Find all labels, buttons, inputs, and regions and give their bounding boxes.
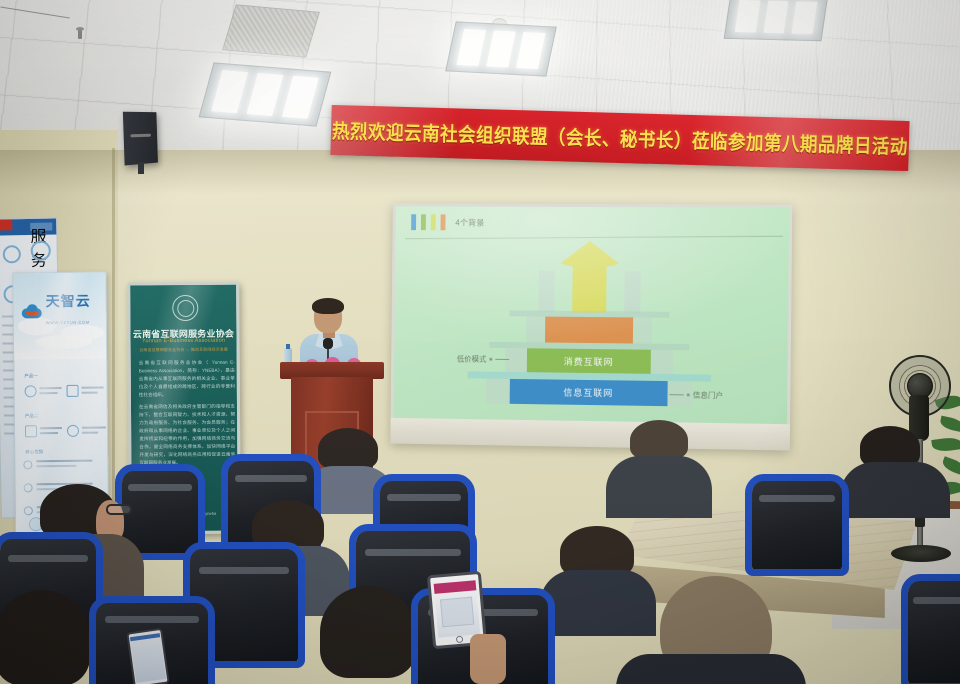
light-tube [792,1,817,34]
audience-shoulders [616,654,806,684]
ceiling-light-panel-right [724,0,829,41]
tier-side-left [526,316,545,342]
ceiling-light-panel-left [199,62,332,126]
slide-title: 4个背景 [455,217,484,228]
header-bar-orange [440,214,445,230]
light-tube [211,71,247,113]
chair-highlight [8,555,89,562]
poster-header-accent [0,219,12,230]
association-paragraph-one: 云南省互联网服务业协会（ Yunnan E-Business Associati… [139,359,235,400]
smartphone[interactable] [126,628,169,684]
welcome-banner-text: 热烈欢迎云南社会组织联盟（会长、秘书长）莅临参加第八期品牌日活动 [332,116,909,160]
tier-side-left [486,379,510,404]
callout-line [495,359,509,360]
arrow-wing-right [624,271,640,313]
ceiling-light-panel-center [445,21,557,76]
audience-head-hair [320,586,416,678]
chair[interactable] [752,480,842,572]
callout-dot [687,393,690,396]
light-tube [457,29,486,66]
chair-frame [901,574,960,684]
arrow-shaft [572,263,606,313]
wall-speaker [123,112,158,166]
tablet-photo-preview [440,597,474,628]
brand-lockup: 天智云 WWW.TZYUN.COM [22,293,91,330]
association-emblem-icon [172,295,198,321]
pyramid-tier-blue: 信息互联网 [486,379,692,407]
light-tube [247,73,283,115]
light-tube [763,0,788,33]
microphone-icon [323,338,333,349]
tier-side-right [651,350,673,374]
light-tube [735,0,760,33]
audience-shoulders [840,462,950,518]
brand-text-group: 天智云 WWW.TZYUN.COM [46,293,91,329]
tier-orange-label [545,317,633,344]
chair-highlight [105,616,199,623]
audience-shoulders [540,570,656,636]
presentation-slide: 4个背景 消费互联网 [394,206,790,424]
chair[interactable] [908,580,960,684]
presenter-hair [312,298,344,314]
association-subtitle: Yunnan E-Business Association [131,338,237,345]
header-bar-lightgreen [431,214,436,230]
callout-left-label: 低价模式 [457,353,487,364]
pyramid-diagram: 消费互联网 信息互联网 低价模式 信息门户 [394,236,789,422]
home-button-icon[interactable] [456,636,464,644]
feature-text-line [82,392,98,394]
header-bar-blue [411,214,416,230]
chair-highlight [913,597,960,604]
chair-highlight [365,549,461,556]
tier-blue-label: 信息互联网 [510,379,668,406]
pyramid-tier-orange [526,316,652,343]
tier-side-right [633,317,652,343]
illustration-circle [31,241,51,261]
chair-frame [745,474,849,576]
brand-name: 天智云 [46,293,91,309]
callout-right-label: 信息门户 [693,389,723,401]
association-tagline: 云南省互联网服务业协会 — 推动互联网经济发展 [131,347,237,354]
cloud-icon [22,304,42,318]
light-tube [516,32,545,69]
audience-shoulders [606,456,712,518]
hand-holding-tablet [470,634,506,684]
feature-text-line [82,387,104,389]
feature-icon [67,385,79,397]
audience-head-hair [318,428,378,470]
chair-highlight [199,567,290,574]
chair-highlight [387,494,461,501]
pyramid-top-arrow [555,241,624,314]
feature-cell [24,383,64,409]
arrow-head [556,241,624,267]
chair-highlight [128,484,192,491]
brand-url: WWW.TZYUN.COM [46,320,90,325]
audience-head-hair [630,420,688,460]
audience-head-hair [0,590,90,684]
chair-highlight [235,475,307,482]
illustration-circle [3,245,21,263]
decor-cloud [36,335,92,350]
ceiling-air-vent [222,4,320,57]
poster-header-bar: 服务指南 [0,218,56,235]
header-bar-green [421,214,426,230]
slide-callout-right: 信息门户 [669,389,723,401]
arrow-wing-left [538,271,554,313]
speaker-bracket [138,162,144,174]
light-tube [487,30,516,67]
pyramid-tier-green: 消费互联网 [505,348,673,374]
section-one-title: 产品一 [24,373,38,379]
poster-header-badge: 服务指南 [30,223,52,231]
feature-icon [25,385,37,397]
audience-seating [0,408,960,684]
sprinkler-head [78,30,82,39]
feature-text-line [40,392,58,394]
callout-line [670,394,684,395]
chair-highlight [759,495,835,502]
slide-callout-left: 低价模式 [457,353,509,365]
slide-header: 4个背景 [411,214,484,230]
phone-screen [130,633,166,683]
feature-cell [66,383,106,409]
light-tube [282,76,318,118]
feature-text-line [40,387,62,389]
callout-dot [489,358,492,361]
eyeglasses-icon [106,504,132,515]
tier-green-label: 消费互联网 [527,348,651,374]
conference-photo-scene: 热烈欢迎云南社会组织联盟（会长、秘书长）莅临参加第八期品牌日活动 4个背景 [0,0,960,684]
